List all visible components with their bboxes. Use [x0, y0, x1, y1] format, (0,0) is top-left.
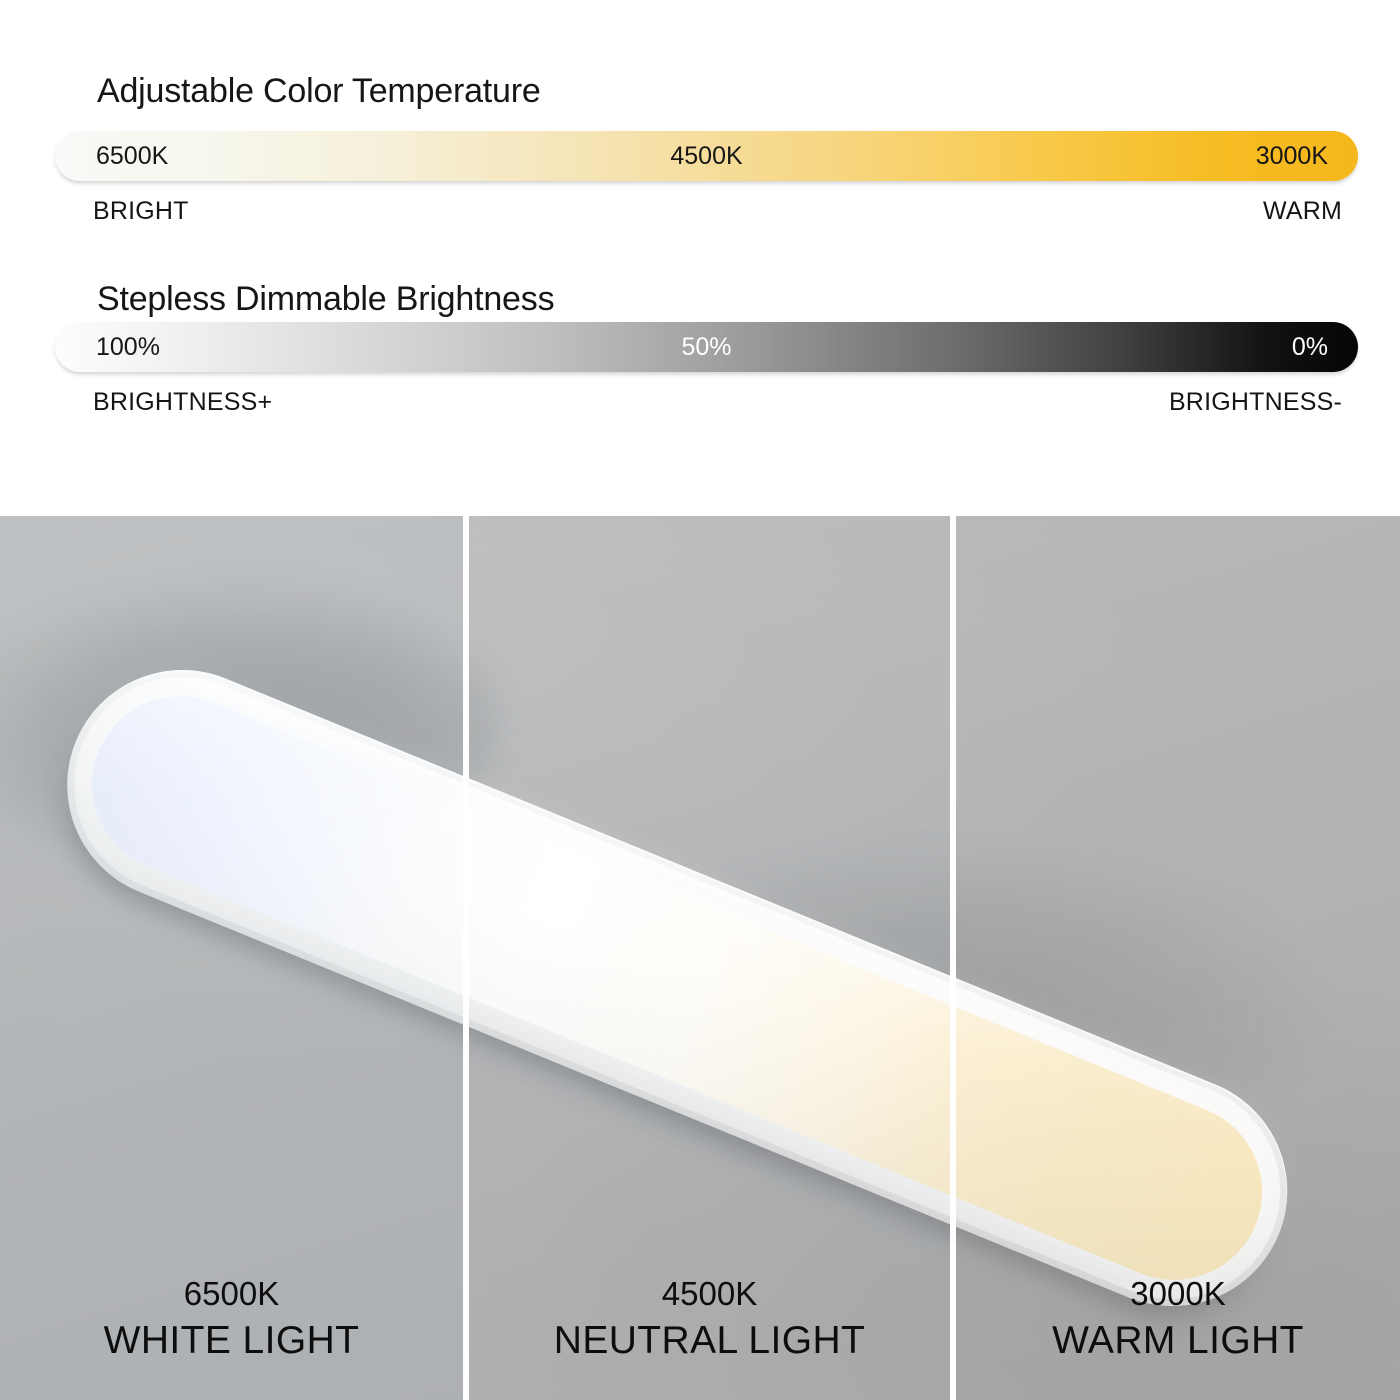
- zone-2-mode: NEUTRAL LIGHT: [469, 1316, 950, 1366]
- color-temperature-caption-left: BRIGHT: [93, 197, 189, 226]
- brightness-caption-right: BRIGHTNESS-: [1169, 388, 1342, 417]
- color-temperature-caption-right: WARM: [1263, 197, 1342, 226]
- spec-panel: Adjustable Color Temperature 6500K 4500K…: [0, 0, 1400, 516]
- zone-caption-white-light: 6500K WHITE LIGHT: [0, 1272, 463, 1366]
- brightness-title: Stepless Dimmable Brightness: [97, 280, 554, 319]
- brightness-gradient-bar[interactable]: 100% 50% 0%: [55, 322, 1358, 372]
- zone-divider-2: [950, 516, 956, 1400]
- zone-1-kelvin: 6500K: [0, 1272, 463, 1316]
- brightness-start-label: 100%: [96, 322, 160, 372]
- zone-2-kelvin: 4500K: [469, 1272, 950, 1316]
- zone-1-mode: WHITE LIGHT: [0, 1316, 463, 1366]
- zone-3-mode: WARM LIGHT: [956, 1316, 1400, 1366]
- brightness-end-label: 0%: [1292, 322, 1328, 372]
- color-temperature-start-label: 6500K: [96, 131, 168, 181]
- color-temperature-end-label: 3000K: [1256, 131, 1328, 181]
- brightness-caption-left: BRIGHTNESS+: [93, 388, 272, 417]
- color-temperature-mid-label: 4500K: [670, 131, 742, 181]
- product-photo: [0, 516, 1400, 1400]
- brightness-mid-label: 50%: [681, 322, 731, 372]
- color-temperature-gradient-bar[interactable]: 6500K 4500K 3000K: [55, 131, 1358, 181]
- zone-3-kelvin: 3000K: [956, 1272, 1400, 1316]
- zone-caption-warm-light: 3000K WARM LIGHT: [956, 1272, 1400, 1366]
- zone-caption-neutral-light: 4500K NEUTRAL LIGHT: [469, 1272, 950, 1366]
- zone-divider-1: [463, 516, 469, 1400]
- color-temperature-title: Adjustable Color Temperature: [97, 72, 541, 111]
